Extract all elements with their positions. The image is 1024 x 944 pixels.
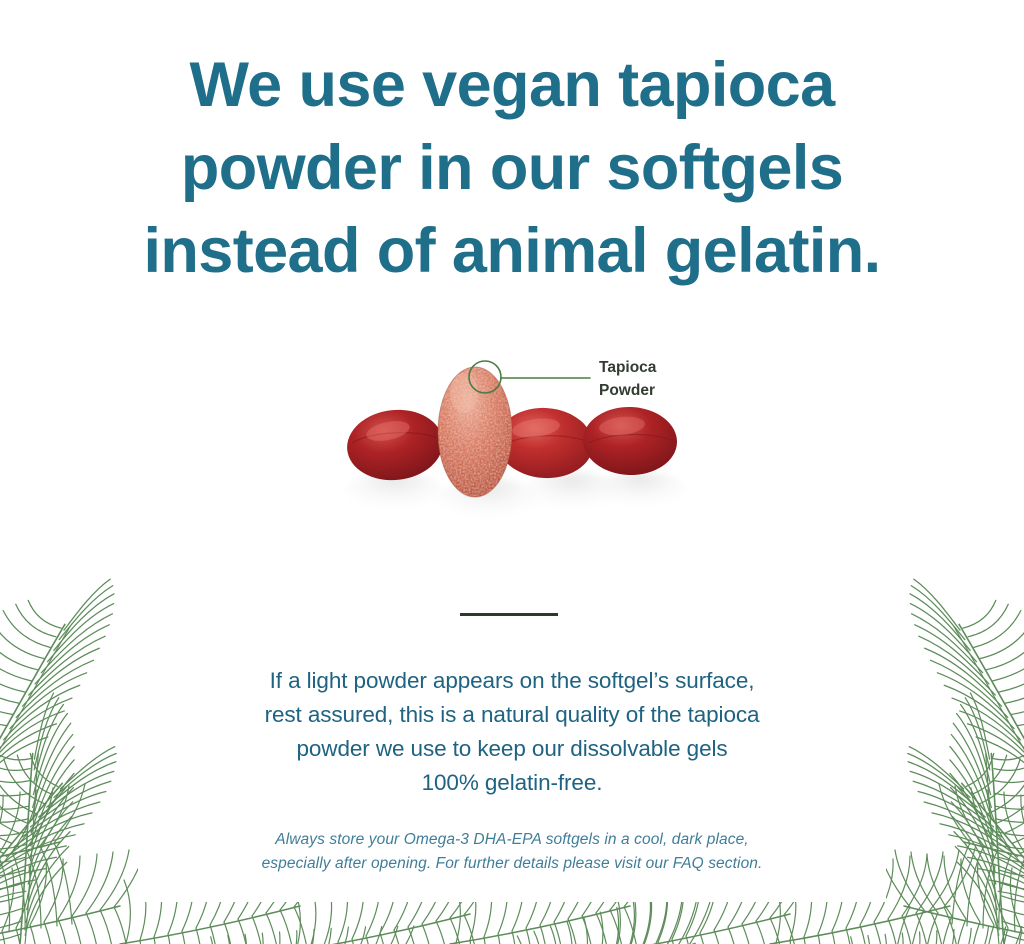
page-root: We use vegan tapioca powder in our softg… — [0, 0, 1024, 944]
page-headline: We use vegan tapioca powder in our softg… — [0, 42, 1024, 293]
storage-footnote: Always store your Omega-3 DHA-EPA softge… — [162, 828, 862, 876]
tapioca-powder-callout-label: Tapioca Powder — [599, 356, 656, 402]
softgel-capsule-right — [582, 405, 678, 476]
section-divider — [460, 613, 558, 616]
body-paragraph: If a light powder appears on the softgel… — [162, 664, 862, 800]
softgel-capsule-left — [344, 405, 447, 485]
